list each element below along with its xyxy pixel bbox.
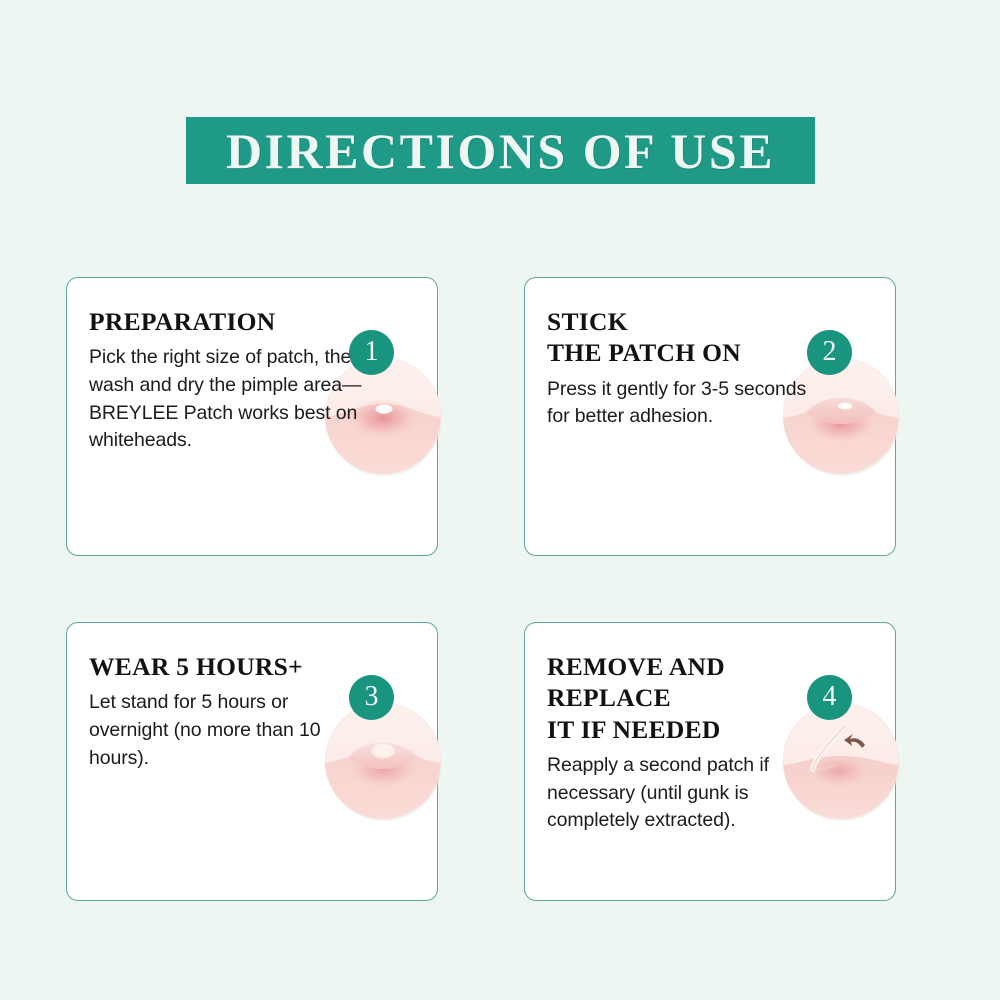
step-card-1: 1 PREPARATION Pick the right size of pat… [66,277,438,556]
step-number-2: 2 [823,338,837,368]
step-card-4: 4 REMOVE AND REPLACE IT IF NEEDED Reappl… [524,622,896,901]
step-text-2: Press it gently for 3-5 seconds for bett… [547,376,823,431]
step-text-4: Reapply a second patch if necessary (unt… [547,752,823,835]
directions-of-use-page: DIRECTIONS OF USE [0,0,1000,1000]
step-number-4: 4 [823,683,837,713]
step-number-3: 3 [365,683,379,713]
step-number-1: 1 [365,338,379,368]
step-badge-1: 1 [349,330,394,375]
step-heading-2: STICK THE PATCH ON [547,306,823,369]
page-title-banner: DIRECTIONS OF USE [186,117,815,184]
step-badge-2: 2 [807,330,852,375]
step-card-2: 2 STICK THE PATCH ON Press it gently for… [524,277,896,556]
step-badge-3: 3 [349,675,394,720]
step-card-3: 3 WEAR 5 HOURS+ Let stand for 5 hours or… [66,622,438,901]
step-heading-4: REMOVE AND REPLACE IT IF NEEDED [547,651,823,745]
step-content-3: WEAR 5 HOURS+ Let stand for 5 hours or o… [89,651,365,772]
step-text-1: Pick the right size of patch, then wash … [89,344,365,455]
step-heading-3: WEAR 5 HOURS+ [89,651,365,682]
step-content-1: PREPARATION Pick the right size of patch… [89,306,365,455]
step-text-3: Let stand for 5 hours or overnight (no m… [89,689,365,772]
step-heading-1: PREPARATION [89,306,365,337]
step-badge-4: 4 [807,675,852,720]
step-content-4: REMOVE AND REPLACE IT IF NEEDED Reapply … [547,651,823,835]
step-content-2: STICK THE PATCH ON Press it gently for 3… [547,306,823,431]
page-title: DIRECTIONS OF USE [226,126,775,176]
